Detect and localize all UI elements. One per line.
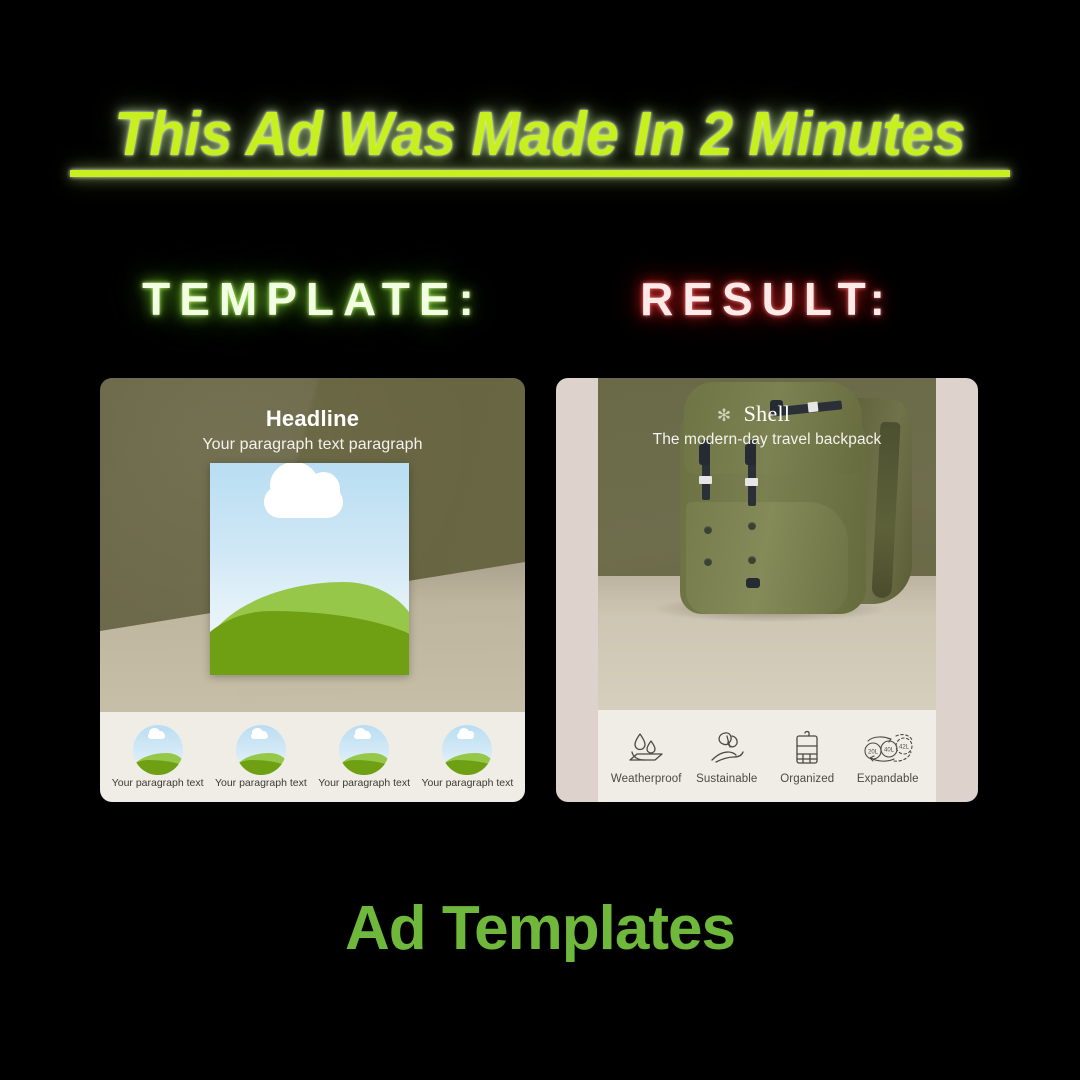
template-feature-item[interactable]: Your paragraph text [421, 725, 513, 790]
result-feature-strip: Weatherproof Sustainable [598, 710, 936, 802]
template-headline: Headline [100, 406, 525, 432]
template-feature-strip: Your paragraph text Your paragraph text … [100, 712, 525, 802]
hand-leaf-icon [687, 728, 768, 768]
placeholder-thumb-icon [133, 725, 183, 775]
template-feature-label: Your paragraph text [318, 778, 410, 790]
backpack-strap-keeper [808, 402, 819, 413]
headline-block: This Ad Was Made In 2 Minutes [0, 104, 1080, 166]
template-column-caption: TEMPLATE: [100, 276, 525, 322]
backpack-strap-keeper [745, 478, 758, 486]
backpack-buckle [770, 400, 783, 414]
placeholder-hill-front-icon [339, 760, 389, 775]
page-title: This Ad Was Made In 2 Minutes [115, 104, 966, 166]
water-droplet-repel-icon [606, 728, 687, 768]
result-feature-item[interactable]: Weatherproof [606, 728, 687, 785]
backpack-buckle [745, 444, 756, 465]
capacity-expand-icon: 20L 40L 42L [848, 728, 929, 768]
placeholder-thumb-icon [339, 725, 389, 775]
backpack-lid [684, 382, 862, 474]
result-card-inner: ✻ Shell The modern-day travel backpack [598, 378, 936, 802]
result-feature-label: Sustainable [687, 773, 768, 785]
result-feature-label: Expandable [848, 773, 929, 785]
backpack-star-logo-icon: ✻ [716, 408, 732, 424]
template-subheadline: Your paragraph text paragraph [100, 436, 525, 454]
template-feature-item[interactable]: Your paragraph text [112, 725, 204, 790]
backpack-stud [748, 556, 756, 564]
brand-footer: Ad Templates [0, 898, 1080, 960]
result-feature-item[interactable]: 20L 40L 42L Expandable [848, 728, 929, 785]
backpack-stud [748, 522, 756, 530]
template-feature-label: Your paragraph text [421, 778, 513, 790]
backpack-buckle [699, 444, 710, 465]
placeholder-thumb-icon [236, 725, 286, 775]
template-feature-label: Your paragraph text [112, 778, 204, 790]
backpack-stud [704, 526, 712, 534]
result-feature-item[interactable]: Sustainable [687, 728, 768, 785]
template-card[interactable]: Headline Your paragraph text paragraph Y… [100, 378, 525, 802]
placeholder-cloud-icon [264, 486, 344, 518]
capacity-40l-label: 40L [884, 747, 895, 753]
template-feature-label: Your paragraph text [215, 778, 307, 790]
backpack-stud [704, 558, 712, 566]
template-feature-item[interactable]: Your paragraph text [215, 725, 307, 790]
placeholder-cloud-icon [148, 733, 165, 739]
capacity-20l-label: 20L [868, 749, 879, 755]
headline-underline [70, 170, 1010, 177]
template-hero-photo: Headline Your paragraph text paragraph [100, 378, 525, 712]
backpack-strap-keeper [699, 476, 712, 484]
result-feature-label: Organized [767, 773, 848, 785]
result-card[interactable]: ✻ Shell The modern-day travel backpack [556, 378, 978, 802]
capacity-42l-label: 42L [899, 744, 910, 750]
placeholder-thumb-icon [442, 725, 492, 775]
backpack-image: ✻ [680, 382, 866, 614]
backpack-buckle [746, 578, 760, 588]
compartment-grid-icon [767, 728, 848, 768]
result-column-caption: RESULT: [556, 276, 978, 322]
result-feature-item[interactable]: Organized [767, 728, 848, 785]
placeholder-cloud-icon [354, 733, 371, 739]
image-placeholder[interactable] [210, 463, 409, 675]
result-feature-label: Weatherproof [606, 773, 687, 785]
placeholder-cloud-icon [457, 733, 474, 739]
product-hero-photo: ✻ Shell The modern-day travel backpack [598, 378, 936, 710]
template-feature-item[interactable]: Your paragraph text [318, 725, 410, 790]
placeholder-cloud-icon [251, 733, 268, 739]
